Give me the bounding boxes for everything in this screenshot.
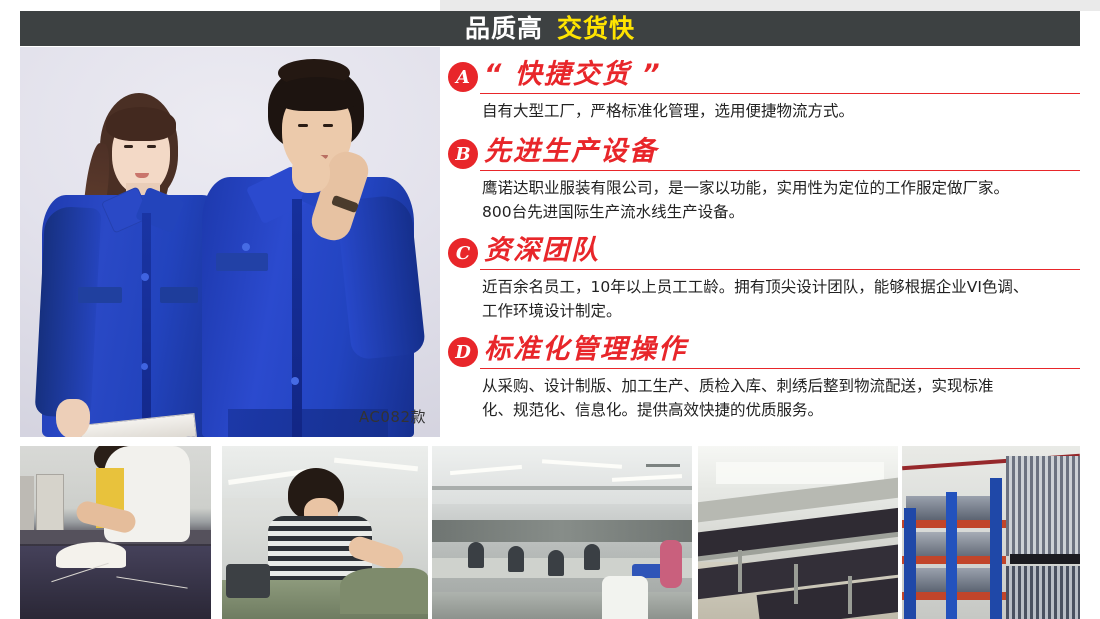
male-model-hand [292,153,330,193]
feature-d-body: 从采购、设计制版、加工生产、质检入库、刺绣后整到物流配送，实现标准 化、规范化、… [482,374,1080,422]
feature-a-head: A “ 快捷交货 ” [448,60,1080,92]
feature-b-head: B 先进生产设备 [448,137,1080,169]
photo-workshop-worker-row-1 [432,520,692,542]
header-bar: 品质高 交货快 [20,11,1080,46]
female-model-hand [56,399,90,437]
feature-a-body: 自有大型工厂，严格标准化管理，选用便捷物流方式。 [482,99,1080,123]
photo-sewing [222,446,428,619]
photo-line-windows [716,462,884,484]
feature-b-rule [480,170,1080,171]
photo-workshop [432,446,692,619]
photo-production-line [698,446,898,619]
male-model-eye-right [323,124,333,127]
photo-workshop-worker-b [508,546,524,572]
feature-item-a: A “ 快捷交货 ” 自有大型工厂，严格标准化管理，选用便捷物流方式。 [448,60,1080,123]
photo-workshop-worker-row-3 [432,592,692,619]
female-model-button-2 [141,363,148,370]
photo-sewing-machine [226,564,270,598]
photo-warehouse [902,446,1080,619]
feature-item-d: D 标准化管理操作 从采购、设计制版、加工生产、质检入库、刺绣后整到物流配送，实… [448,335,1080,422]
photo-warehouse-rack-post-3 [990,478,1002,619]
female-model-eye-right [147,145,156,148]
top-light-strip [440,0,1100,11]
feature-c-line-2: 工作环境设计制定。 [482,299,1080,323]
feature-a-badge: A [448,62,478,92]
feature-b-line-2: 800台先进国际生产流水线生产设备。 [482,200,1080,224]
photo-workshop-worker-a [468,542,484,568]
feature-list: A “ 快捷交货 ” 自有大型工厂，严格标准化管理，选用便捷物流方式。 B 先进… [448,60,1080,440]
photo-warehouse-cart [1010,554,1080,564]
header-title-primary: 品质高 [465,16,543,41]
photo-workshop-beam [432,486,692,490]
feature-d-badge: D [448,337,478,367]
photo-workshop-worker-c [548,550,564,576]
photo-line-leg-1 [738,550,742,592]
female-model-sleeve [35,206,102,419]
feature-b-title: 先进生产设备 [484,137,658,167]
female-model-pocket-right [160,287,198,303]
male-model-chest-pocket [216,253,268,271]
photo-line-leg-2 [794,564,798,604]
photo-workshop-ceiling-fan [646,464,680,467]
photo-warehouse-hanging-garments-lower [1006,566,1080,619]
photo-workshop-white-garment-stack [602,576,648,619]
photo-workshop-worker-pink [660,540,682,588]
feature-a-rule [480,93,1080,94]
photo-cutting-computer-2 [20,476,34,532]
photo-cutting [20,446,211,619]
feature-item-b: B 先进生产设备 鹰诺达职业服装有限公司，是一家以功能，实用性为定位的工作服定做… [448,137,1080,224]
male-model-pocket-button [242,243,250,251]
photo-cutting-computer [36,474,64,534]
male-model-eye-left [298,124,308,127]
photo-cutting-pattern-paper [56,542,126,568]
feature-c-line-1: 近百余名员工，10年以上员工工龄。拥有顶尖设计团队，能够根据企业VI色调、 [482,275,1080,299]
female-model-button-1 [141,273,149,281]
feature-d-head: D 标准化管理操作 [448,335,1080,367]
photo-line-leg-3 [848,576,852,614]
male-model-front-button [291,377,299,385]
feature-c-title: 资深团队 [484,236,600,266]
feature-d-title: 标准化管理操作 [484,335,687,365]
male-model-placket [292,199,302,437]
photo-warehouse-rack-post-1 [904,508,916,619]
feature-b-badge: B [448,139,478,169]
feature-item-c: C 资深团队 近百余名员工，10年以上员工工龄。拥有顶尖设计团队，能够根据企业V… [448,236,1080,323]
feature-c-rule [480,269,1080,270]
feature-b-body: 鹰诺达职业服装有限公司，是一家以功能，实用性为定位的工作服定做厂家。 800台先… [482,176,1080,224]
female-model-pocket-left [78,287,122,303]
feature-d-rule [480,368,1080,369]
photo-warehouse-hanging-garments-upper [1006,456,1080,556]
factory-photo-strip [20,446,1080,619]
feature-c-head: C 资深团队 [448,236,1080,268]
photo-workshop-worker-d [584,544,600,570]
feature-a-title: “ 快捷交货 ” [484,60,662,90]
header-title-accent: 交货快 [557,16,635,41]
product-code-label: AC082款 [359,406,426,427]
feature-c-body: 近百余名员工，10年以上员工工龄。拥有顶尖设计团队，能够根据企业VI色调、 工作… [482,275,1080,323]
feature-b-line-1: 鹰诺达职业服装有限公司，是一家以功能，实用性为定位的工作服定做厂家。 [482,176,1080,200]
product-feature-banner: 品质高 交货快 [0,0,1100,619]
feature-c-badge: C [448,238,478,268]
photo-warehouse-rack-post-2 [946,492,957,619]
feature-d-line-1: 从采购、设计制版、加工生产、质检入库、刺绣后整到物流配送，实现标准 [482,374,1080,398]
female-model-placket [142,213,151,435]
hero-product-photo: AC082款 [20,47,440,437]
feature-a-line-1: 自有大型工厂，严格标准化管理，选用便捷物流方式。 [482,99,1080,123]
feature-d-line-2: 化、规范化、信息化。提供高效快捷的优质服务。 [482,398,1080,422]
female-model-eye-left [124,145,133,148]
photo-sewing-fabric-pile [340,568,428,614]
